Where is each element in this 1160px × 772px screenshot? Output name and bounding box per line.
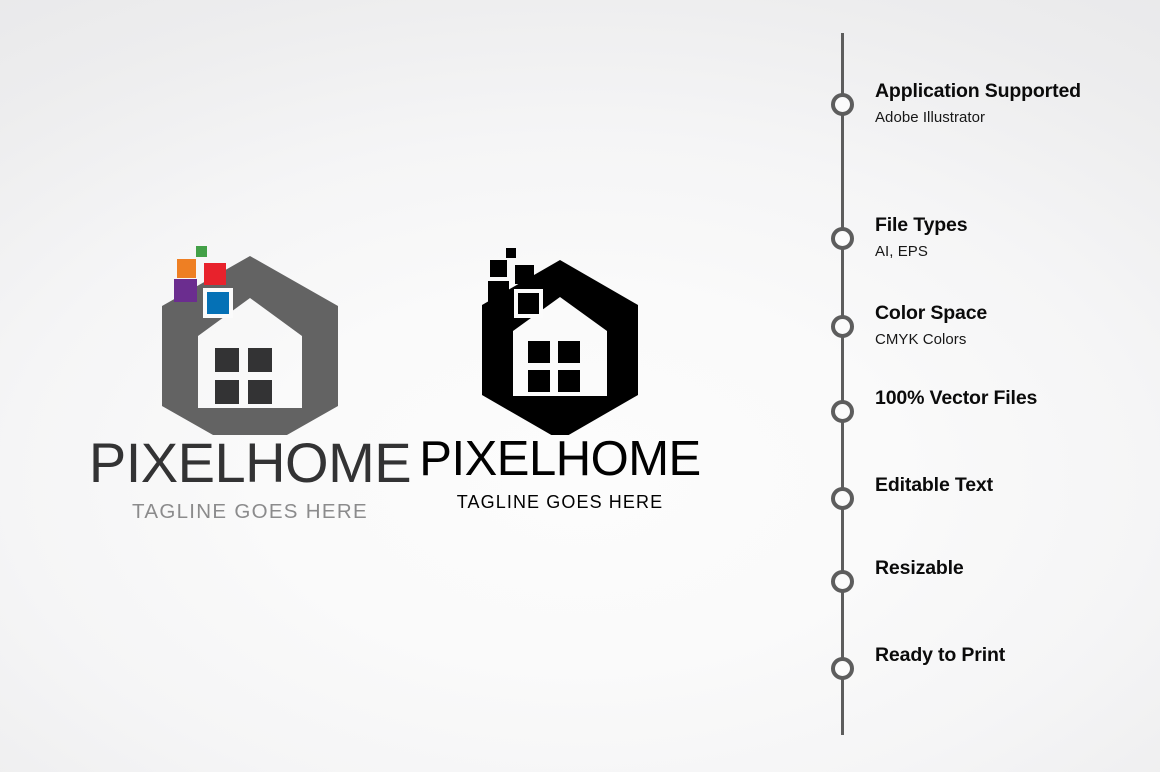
timeline-node-icon bbox=[831, 487, 854, 510]
spec-text-group: Color Space CMYK Colors bbox=[875, 302, 1160, 349]
red-pixel bbox=[204, 263, 226, 285]
timeline-node-icon bbox=[831, 657, 854, 680]
hexagon-house-mark-color bbox=[70, 230, 430, 435]
specification-panel: Application Supported Adobe Illustrator … bbox=[810, 0, 1160, 772]
logo-variant-color: PIXELHOME TAGLINE GOES HERE bbox=[70, 230, 430, 523]
window-pane-top-right bbox=[248, 348, 272, 372]
logo-mark-black bbox=[380, 230, 740, 435]
black-pixel-5-core bbox=[518, 293, 539, 314]
window-pane-bottom-right bbox=[558, 370, 580, 392]
presentation-canvas: PIXELHOME TAGLINE GOES HERE bbox=[0, 0, 1160, 772]
purple-pixel bbox=[174, 279, 197, 302]
timeline-axis-line bbox=[841, 33, 844, 735]
window-pane-bottom-left bbox=[215, 380, 239, 404]
logo-wordmark: PIXELHOME bbox=[380, 435, 740, 484]
window-pane-top-left bbox=[528, 341, 550, 363]
black-pixel-4 bbox=[488, 281, 509, 302]
spec-text-group: Ready to Print bbox=[875, 644, 1160, 668]
hexagon-house-mark-black bbox=[380, 230, 740, 435]
logo-wordmark: PIXELHOME bbox=[70, 435, 430, 491]
spec-text-group: File Types AI, EPS bbox=[875, 214, 1160, 261]
logo-tagline: TAGLINE GOES HERE bbox=[70, 502, 430, 523]
logo-variant-black: PIXELHOME TAGLINE GOES HERE bbox=[380, 230, 740, 511]
black-pixel-1 bbox=[506, 248, 516, 258]
black-pixel-2 bbox=[490, 260, 507, 277]
spec-title: 100% Vector Files bbox=[875, 387, 1160, 411]
spec-subtitle: Adobe Illustrator bbox=[875, 109, 1160, 127]
window-pane-top-right bbox=[558, 341, 580, 363]
logo-tagline: TAGLINE GOES HERE bbox=[380, 493, 740, 511]
spec-text-group: Resizable bbox=[875, 557, 1160, 581]
timeline-node-icon bbox=[831, 400, 854, 423]
timeline-node-icon bbox=[831, 227, 854, 250]
logo-showcase: PIXELHOME TAGLINE GOES HERE bbox=[0, 0, 810, 772]
spec-text-group: 100% Vector Files bbox=[875, 387, 1160, 411]
spec-title: Resizable bbox=[875, 557, 1160, 581]
spec-title: Editable Text bbox=[875, 474, 1160, 498]
timeline-node-icon bbox=[831, 570, 854, 593]
orange-pixel bbox=[177, 259, 196, 278]
logo-mark-color bbox=[70, 230, 430, 435]
window-pane-bottom-right bbox=[248, 380, 272, 404]
window-pane-top-left bbox=[215, 348, 239, 372]
timeline-node-icon bbox=[831, 93, 854, 116]
spec-title: Application Supported bbox=[875, 80, 1160, 104]
blue-pixel-core bbox=[207, 292, 229, 314]
spec-title: File Types bbox=[875, 214, 1160, 238]
spec-text-group: Editable Text bbox=[875, 474, 1160, 498]
spec-subtitle: CMYK Colors bbox=[875, 331, 1160, 349]
timeline-node-icon bbox=[831, 315, 854, 338]
black-pixel-3 bbox=[515, 265, 534, 284]
spec-subtitle: AI, EPS bbox=[875, 243, 1160, 261]
spec-title: Color Space bbox=[875, 302, 1160, 326]
green-pixel bbox=[196, 246, 207, 257]
spec-text-group: Application Supported Adobe Illustrator bbox=[875, 80, 1160, 127]
spec-title: Ready to Print bbox=[875, 644, 1160, 668]
window-pane-bottom-left bbox=[528, 370, 550, 392]
